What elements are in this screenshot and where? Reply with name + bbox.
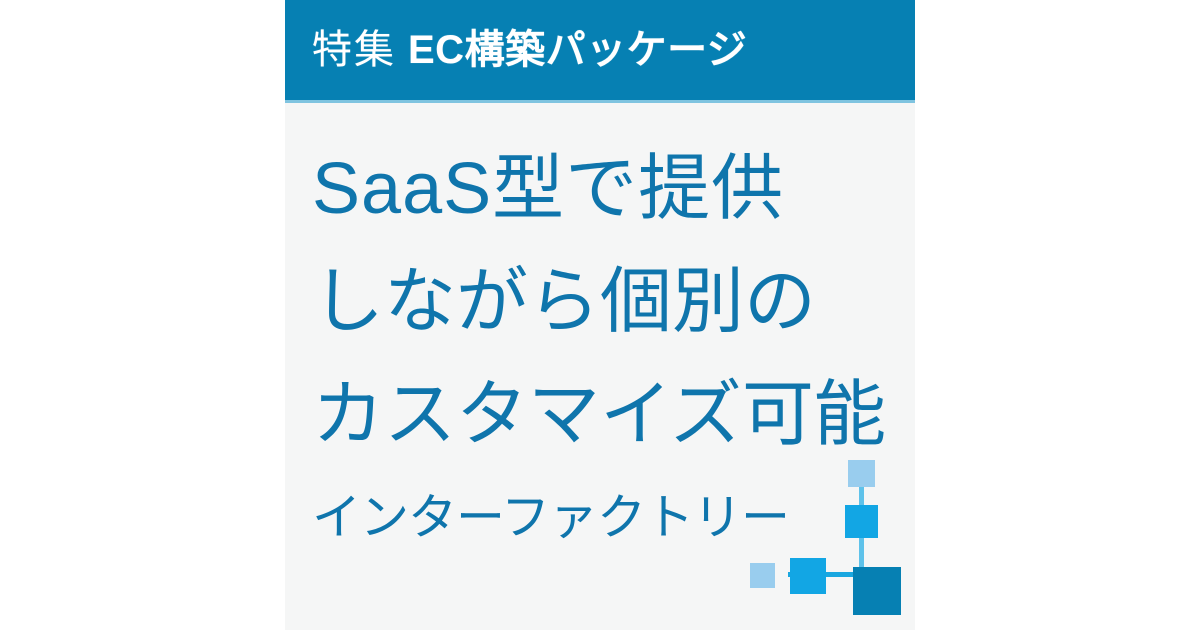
headline-line-1: SaaS型で提供 (312, 133, 902, 246)
logo-square-dark-large (853, 567, 901, 615)
headline-line-2: しながら個別の (312, 246, 902, 359)
logo-square-light-top (848, 460, 875, 487)
company-name-label: インターファクトリー (312, 487, 789, 549)
card-header-banner: 特集 EC構築パッケージ (285, 0, 915, 100)
logo-square-mid-top (845, 505, 878, 538)
headline-block: SaaS型で提供 しながら個別の カスタマイズ可能 (312, 133, 902, 472)
header-divider-rule (285, 100, 915, 103)
interfactory-logo-mark-icon (745, 455, 915, 630)
page-canvas: 特集 EC構築パッケージ SaaS型で提供 しながら個別の カスタマイズ可能 イ… (0, 0, 1200, 630)
logo-square-light-left (750, 563, 775, 588)
header-kicker-label: 特集 (312, 30, 396, 70)
feature-card: 特集 EC構築パッケージ SaaS型で提供 しながら個別の カスタマイズ可能 イ… (285, 0, 915, 630)
header-title: EC構築パッケージ (408, 30, 747, 70)
logo-square-mid-bottom (790, 558, 826, 594)
